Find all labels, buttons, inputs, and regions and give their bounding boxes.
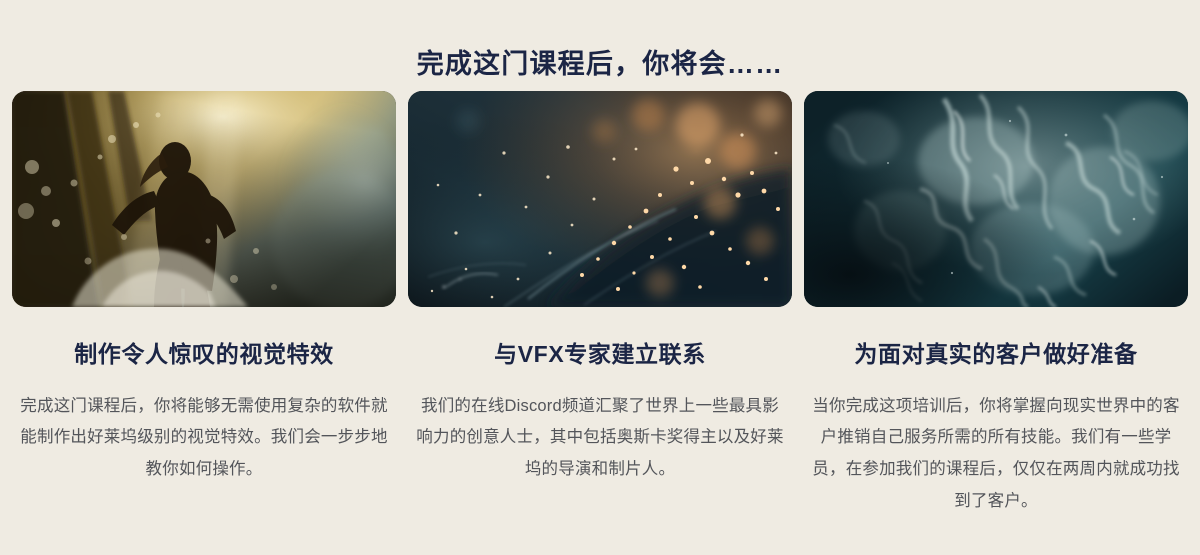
benefit-card: 为面对真实的客户做好准备 当你完成这项培训后，你将掌握向现实世界中的客户推销自己…	[804, 91, 1188, 534]
benefit-card: 制作令人惊叹的视觉特效 完成这门课程后，你将能够无需使用复杂的软件就能制作出好莱…	[12, 91, 396, 534]
warrior-running-through-water-golden-light-icon	[12, 91, 396, 307]
card-title: 制作令人惊叹的视觉特效	[74, 340, 334, 369]
orange-embers-over-dark-teal-waves-icon	[408, 91, 792, 307]
teal-smoke-swirls-icon	[804, 91, 1188, 307]
benefit-card: 与VFX专家建立联系 我们的在线Discord频道汇聚了世界上一些最具影响力的创…	[408, 91, 792, 534]
card-title: 为面对真实的客户做好准备	[854, 340, 1137, 369]
card-description: 完成这门课程后，你将能够无需使用复杂的软件就能制作出好莱坞级别的视觉特效。我们会…	[17, 391, 391, 486]
page-title: 完成这门课程后，你将会……	[0, 48, 1200, 80]
card-title: 与VFX专家建立联系	[494, 340, 706, 369]
card-thumbnail-warrior	[12, 91, 396, 307]
card-description: 我们的在线Discord频道汇聚了世界上一些最具影响力的创意人士，其中包括奥斯卡…	[413, 391, 787, 486]
benefit-card-grid: 制作令人惊叹的视觉特效 完成这门课程后，你将能够无需使用复杂的软件就能制作出好莱…	[12, 91, 1188, 534]
card-description: 当你完成这项培训后，你将掌握向现实世界中的客户推销自己服务所需的所有技能。我们有…	[809, 391, 1183, 518]
card-thumbnail-embers	[408, 91, 792, 307]
card-thumbnail-smoke	[804, 91, 1188, 307]
promo-section: 完成这门课程后，你将会……	[0, 0, 1200, 555]
